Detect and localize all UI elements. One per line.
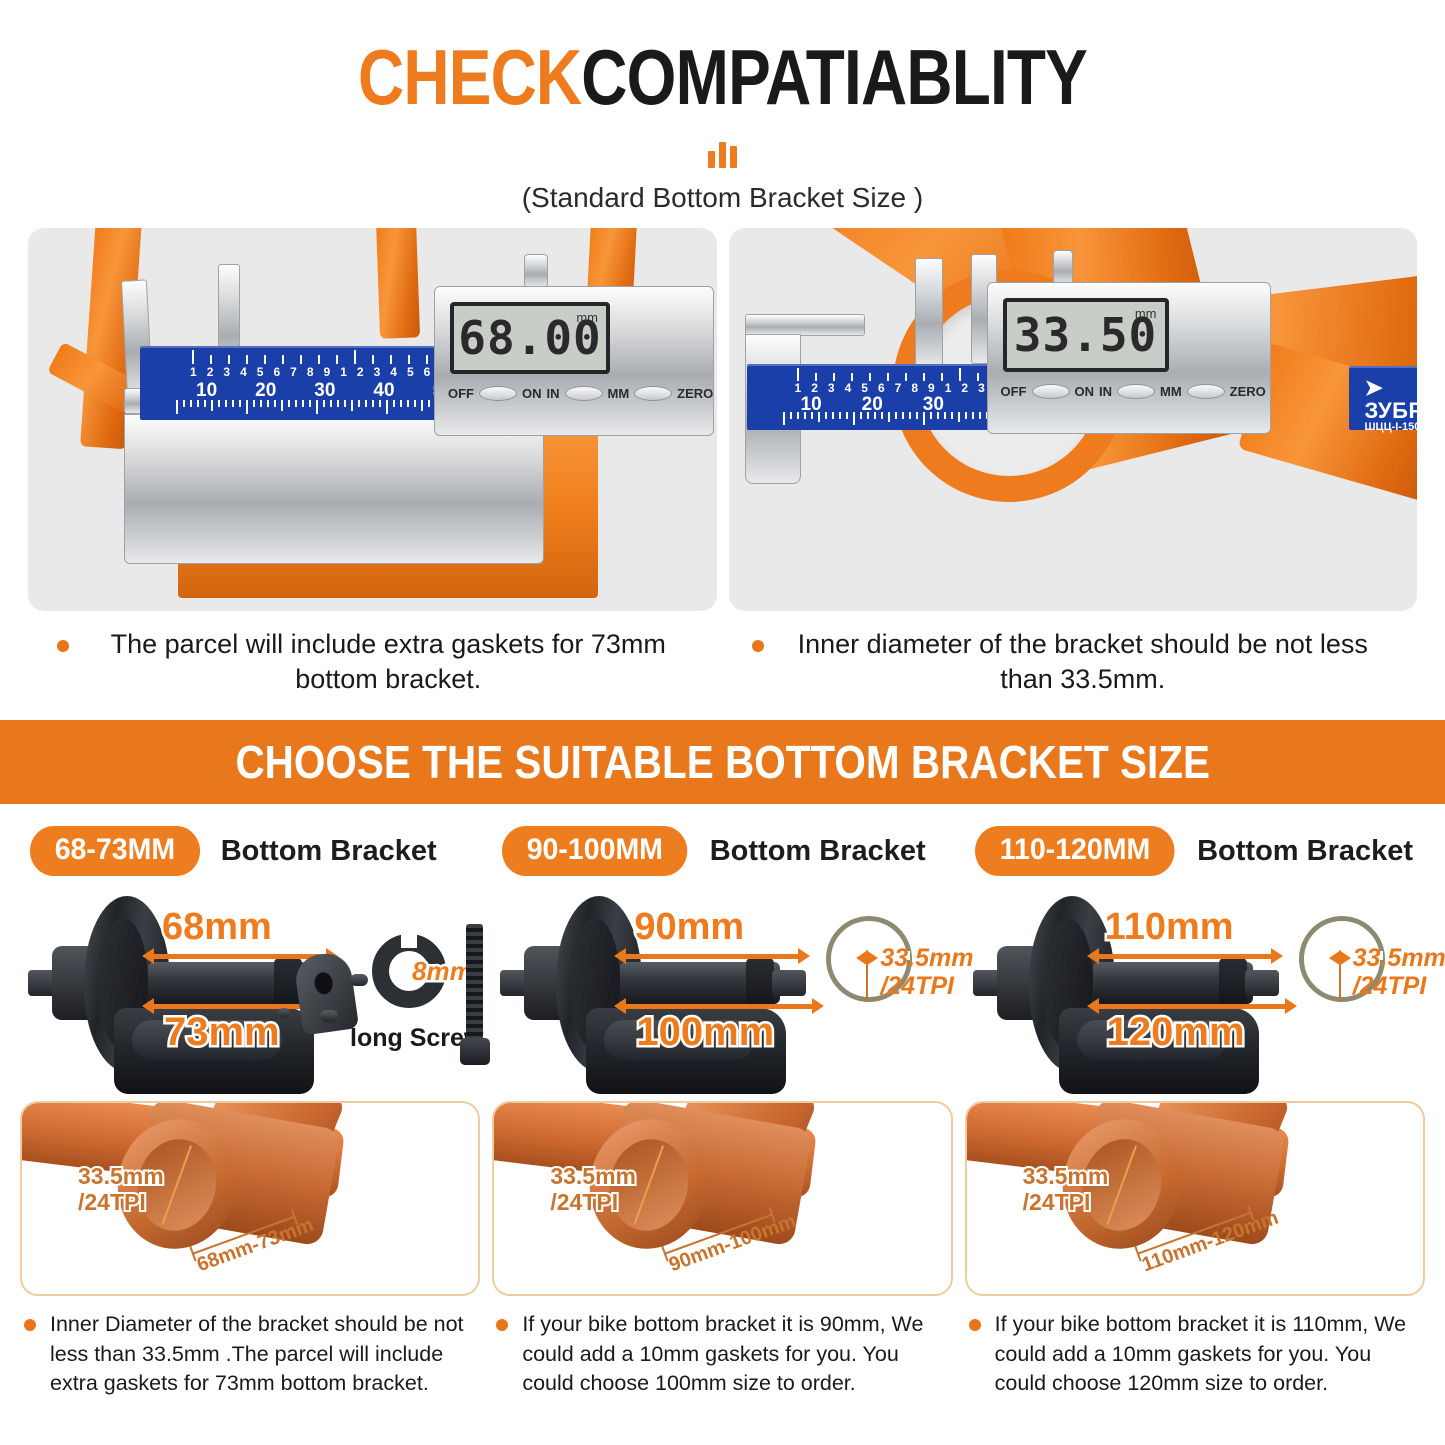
photo-caption-left: The parcel will include extra gaskets fo…: [55, 627, 695, 696]
section-banner-title: CHOOSE THE SUITABLE BOTTOM BRACKET SIZE: [235, 735, 1210, 789]
column-caption: Inner Diameter of the bracket should be …: [20, 1310, 480, 1399]
bracket-photo: 33.5mm /24TPI 110mm-120mm: [965, 1101, 1425, 1296]
caliper-thumbscrew[interactable]: [524, 254, 548, 288]
caliper-unit-button[interactable]: [565, 386, 603, 401]
ring-spec-label: 33.5mm /24TPI: [880, 944, 973, 1000]
bars-ornament-icon: [0, 138, 1445, 168]
ring-spec-line1: 33.5mm: [880, 944, 973, 972]
crank-arm-part: [293, 951, 359, 1036]
motor-axle-stub-right: [1245, 970, 1279, 996]
photo-caption-right: Inner diameter of the bracket should be …: [750, 627, 1390, 696]
bullet-dot-icon: [969, 1319, 981, 1331]
caliper-off-label: OFF: [1001, 384, 1027, 399]
col-header: 90-100MM Bottom Bracket: [492, 826, 952, 876]
col-header: 68-73MM Bottom Bracket: [20, 826, 480, 876]
gasket-thickness-label: 8mm: [412, 956, 473, 987]
dimension-label-top: 90mm: [634, 906, 744, 949]
bracket-thread-line2: /24TPI: [1023, 1189, 1109, 1215]
caliper-unit-label: mm: [1135, 306, 1157, 321]
photo-caption-row: The parcel will include extra gaskets fo…: [0, 611, 1445, 696]
bolt-part: [350, 974, 368, 986]
dimension-arrow-top: [624, 954, 800, 959]
caliper-button-row: OFF ON IN MM ZERO: [448, 386, 713, 401]
caliper-thumbscrew[interactable]: [1053, 250, 1073, 286]
bullet-dot-icon: [752, 640, 764, 652]
caliper-brand-label: ➤ ЗУБР ШЦЦ-I-150: [1365, 376, 1418, 434]
dimension-arrow-bottom: [624, 1004, 814, 1009]
column-caption-text: If your bike bottom bracket it is 110mm,…: [995, 1312, 1406, 1395]
photo-caption-right-text: Inner diameter of the bracket should be …: [798, 629, 1368, 694]
ring-spec-line2: /24TPI: [880, 972, 973, 1000]
bracket-thread-line2: /24TPI: [78, 1189, 164, 1215]
dimension-label-bottom: 120mm: [1107, 1010, 1245, 1055]
bracket-thread-label: 33.5mm /24TPI: [1023, 1163, 1109, 1215]
page-header: CHECKCOMPATIABLITY (Standard Bottom Brac…: [0, 0, 1445, 214]
photo-caption-left-text: The parcel will include extra gaskets fo…: [111, 629, 666, 694]
motor-axle-stub-right: [772, 970, 806, 996]
size-badge-label: Bottom Bracket: [1197, 835, 1413, 868]
dimension-label-bottom: 73mm: [164, 1010, 280, 1055]
caliper-ticks-upper: [797, 368, 1015, 381]
photo-bb-inner-diameter: 123456789 1234 102030 ➤ ЗУБР ШЦЦ-I-150: [729, 228, 1418, 611]
caliper-zero-button[interactable]: [1187, 384, 1225, 399]
bullet-dot-icon: [24, 1319, 36, 1331]
column-caption-text: If your bike bottom bracket it is 90mm, …: [522, 1312, 923, 1395]
caliper-zero-button[interactable]: [634, 386, 672, 401]
bracket-thread-label: 33.5mm /24TPI: [78, 1163, 164, 1215]
caliper-on-label: ON: [522, 386, 542, 401]
page-title: CHECKCOMPATIABLITY: [130, 38, 1315, 116]
bracket-photo: 33.5mm /24TPI 90mm-100mm: [492, 1101, 952, 1296]
bracket-photo: 33.5mm /24TPI 68mm-73mm: [20, 1101, 480, 1296]
brand-arrow-icon: ➤: [1365, 375, 1384, 400]
dimension-arrow-bottom: [1097, 1004, 1287, 1009]
size-badge-label: Bottom Bracket: [221, 835, 437, 868]
measurement-photo-row: 123456789 123456789 12345678 10203040506…: [0, 214, 1445, 611]
dimension-label-bottom: 100mm: [636, 1010, 774, 1055]
ring-diameter-line: [1339, 956, 1341, 1002]
motor-diagram: 110mm 120mm 33.5mm /24TPI: [965, 882, 1425, 1097]
brand-model: ШЦЦ-I-150: [1365, 422, 1418, 434]
ring-spec-line2: /24TPI: [1353, 972, 1445, 1000]
size-badge-label: Bottom Bracket: [710, 835, 926, 868]
caliper-unit-label: mm: [576, 310, 598, 325]
bracket-thread-line1: 33.5mm: [1023, 1163, 1109, 1189]
bolt-part: [320, 1010, 338, 1022]
title-word-check: CHECK: [358, 33, 581, 121]
size-badge[interactable]: 90-100MM: [502, 826, 688, 876]
column-caption-text: Inner Diameter of the bracket should be …: [50, 1312, 464, 1395]
caliper-off-label: OFF: [448, 386, 474, 401]
caliper-zero-label: ZERO: [1230, 384, 1266, 399]
column-caption: If your bike bottom bracket it is 90mm, …: [492, 1310, 952, 1399]
photo-caption-right-wrap: Inner diameter of the bracket should be …: [723, 627, 1418, 696]
motor-diagram: 90mm 100mm 33.5mm /24TPI: [492, 882, 952, 1097]
dimension-arrow-top: [152, 954, 328, 959]
caliper-mm-label: MM: [608, 386, 630, 401]
column-caption: If your bike bottom bracket it is 110mm,…: [965, 1310, 1425, 1399]
caliper-mm-label: MM: [1160, 384, 1182, 399]
caliper-in-label: IN: [1099, 384, 1112, 399]
caliper-unit-button[interactable]: [1117, 384, 1155, 399]
caliper-lower-jaw-block: [124, 414, 544, 564]
caliper-jaw-inner-left: [915, 258, 943, 368]
size-option-110-120: 110-120MM Bottom Bracket 110mm 120mm: [965, 826, 1425, 1399]
bike-frame-tube: [376, 228, 420, 339]
caliper-lcd-screen: 68.00 mm: [450, 302, 610, 374]
page-subtitle: (Standard Bottom Bracket Size ): [0, 182, 1445, 214]
motor-axle-cap: [1219, 958, 1247, 1008]
caliper-in-label: IN: [547, 386, 560, 401]
caliper-on-label: ON: [1075, 384, 1095, 399]
bolt-part: [278, 1008, 290, 1018]
size-badge[interactable]: 110-120MM: [975, 826, 1175, 876]
bracket-thread-line2: /24TPI: [550, 1189, 636, 1215]
col-header: 110-120MM Bottom Bracket: [965, 826, 1425, 876]
size-badge[interactable]: 68-73MM: [30, 826, 200, 876]
dimension-label-top: 110mm: [1105, 906, 1234, 949]
motor-diagram: 68mm 73mm 8mm long Screw: [20, 882, 480, 1097]
size-options-row: 68-73MM Bottom Bracket 68mm 73mm: [0, 804, 1445, 1399]
long-screw-part: [466, 924, 483, 1042]
motor-axle-cap: [746, 958, 774, 1008]
caliper-power-button[interactable]: [1032, 384, 1070, 399]
dimension-arrow-top: [1097, 954, 1273, 959]
caliper-zero-label: ZERO: [677, 386, 713, 401]
size-option-90-100: 90-100MM Bottom Bracket 90mm 100mm: [492, 826, 952, 1399]
title-word-compatiablity: COMPATIABLITY: [581, 33, 1087, 121]
caliper-button-row: OFF ON IN MM ZERO: [1001, 384, 1266, 399]
brand-name: ЗУБР: [1365, 398, 1418, 423]
bracket-thread-label: 33.5mm /24TPI: [550, 1163, 636, 1215]
bracket-thread-line1: 33.5mm: [78, 1163, 164, 1189]
dimension-label-top: 68mm: [162, 906, 272, 949]
bullet-dot-icon: [57, 640, 69, 652]
bracket-thread-line1: 33.5mm: [550, 1163, 636, 1189]
caliper-power-button[interactable]: [479, 386, 517, 401]
caliper-beam-upper: [745, 314, 865, 336]
ring-spec-line1: 33.5mm: [1353, 944, 1445, 972]
bullet-dot-icon: [496, 1319, 508, 1331]
caliper-lcd-screen: 33.50 mm: [1003, 298, 1169, 372]
long-screw-head: [460, 1038, 490, 1065]
ring-spec-label: 33.5mm /24TPI: [1353, 944, 1445, 1000]
section-banner: CHOOSE THE SUITABLE BOTTOM BRACKET SIZE: [0, 720, 1445, 804]
size-option-68-73: 68-73MM Bottom Bracket 68mm 73mm: [20, 826, 480, 1399]
caliper-vernier-numbers: 123456789 1234: [795, 381, 1002, 395]
photo-bb-shell-width: 123456789 123456789 12345678 10203040506…: [28, 228, 717, 611]
photo-caption-left-wrap: The parcel will include extra gaskets fo…: [28, 627, 723, 696]
